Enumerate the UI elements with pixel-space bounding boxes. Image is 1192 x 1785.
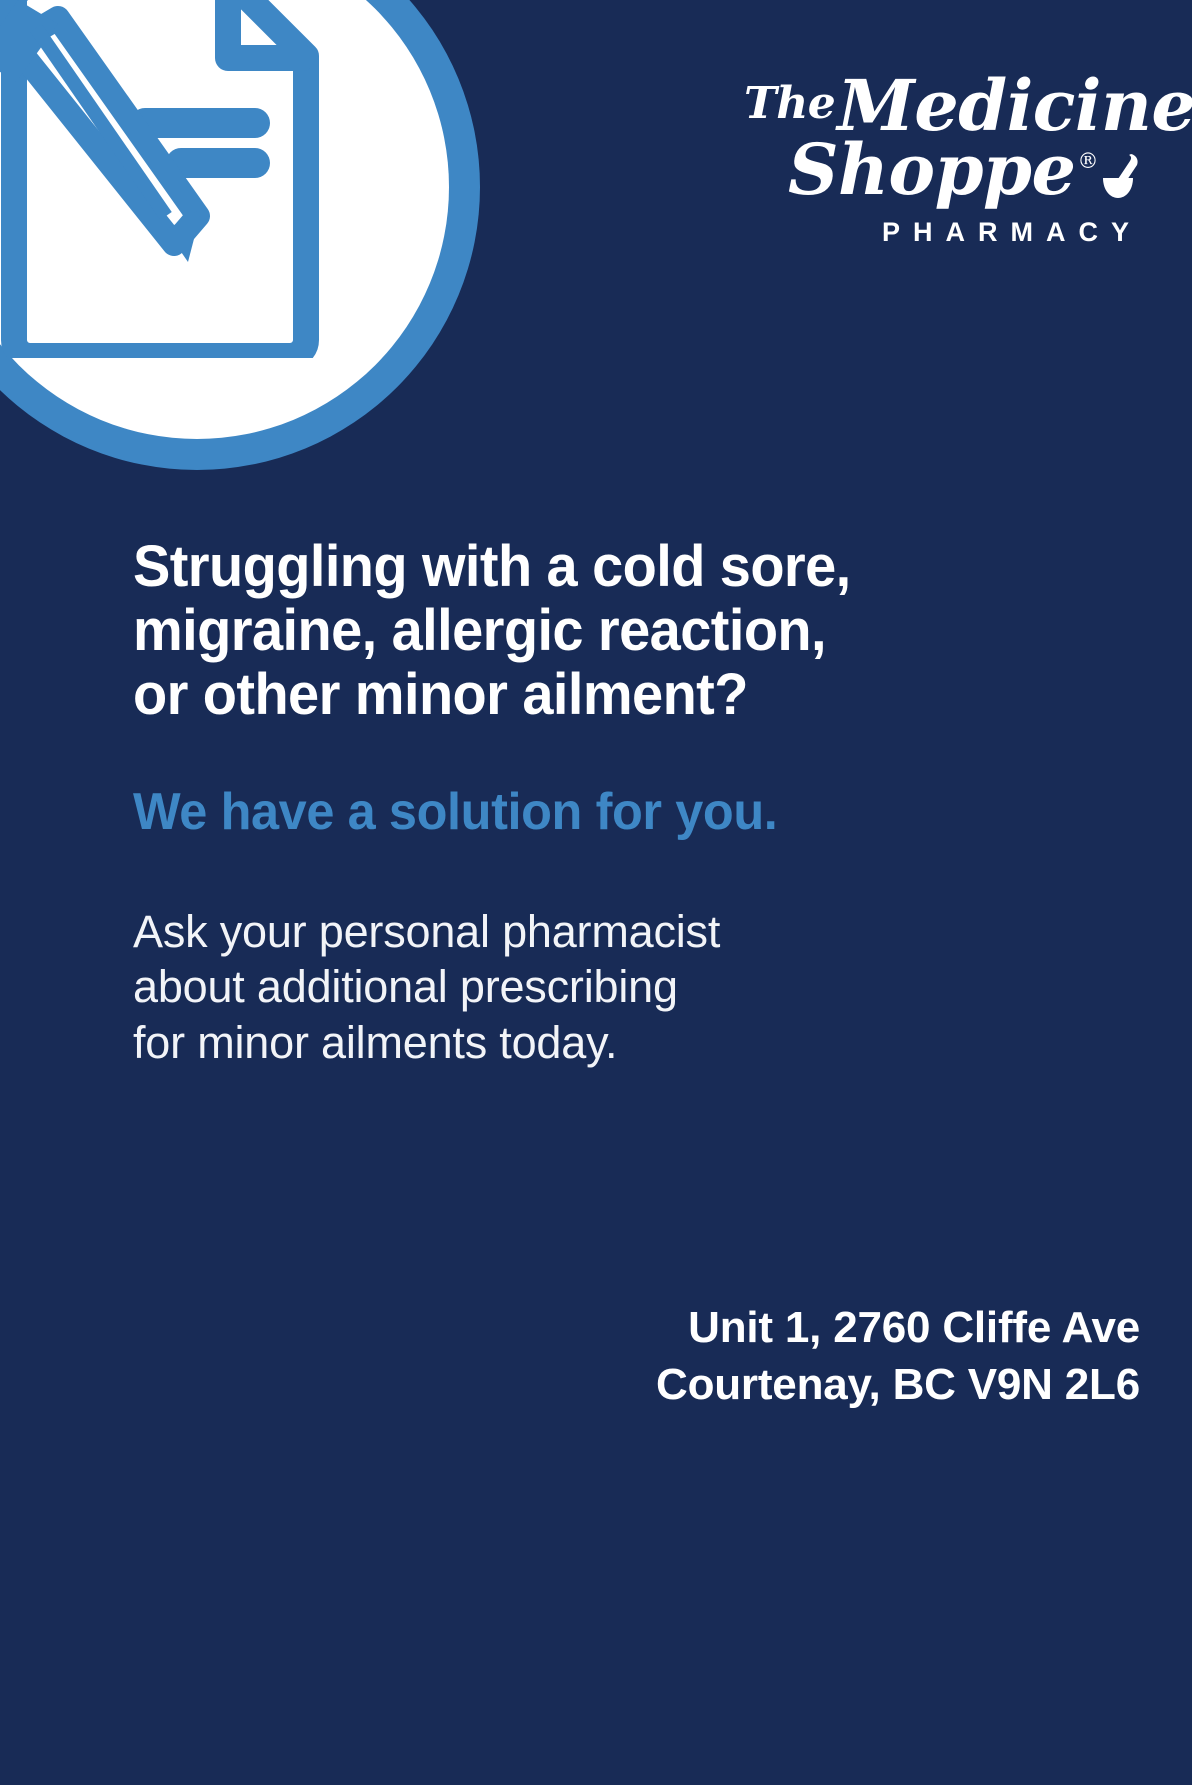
- address-line-2: Courtenay, BC V9N 2L6: [656, 1356, 1140, 1413]
- poster-canvas: TheMedicine Shoppe® PHARMACY Struggling …: [0, 0, 1192, 1785]
- content-block: Struggling with a cold sore, migraine, a…: [133, 535, 1144, 1071]
- headline-line-2: migraine, allergic reaction,: [133, 599, 1109, 663]
- logo-line-shoppe: Shoppe®: [744, 138, 1144, 202]
- body-line-1: Ask your personal pharmacist: [133, 904, 1144, 960]
- body-line-2: about additional prescribing: [133, 959, 1144, 1015]
- logo-script-lockup: TheMedicine Shoppe®: [744, 74, 1144, 203]
- logo-word-the: The: [744, 78, 837, 129]
- store-address: Unit 1, 2760 Cliffe Ave Courtenay, BC V9…: [656, 1299, 1140, 1413]
- subheadline: We have a solution for you.: [133, 784, 1114, 841]
- brand-logo: TheMedicine Shoppe® PHARMACY: [744, 74, 1144, 248]
- headline-line-3: or other minor ailment?: [133, 663, 1109, 727]
- circle-badge: [0, 0, 480, 470]
- logo-word-shoppe: Shoppe: [788, 128, 1076, 211]
- document-with-pencil-icon: [0, 0, 362, 358]
- headline: Struggling with a cold sore, migraine, a…: [133, 535, 1109, 726]
- headline-line-1: Struggling with a cold sore,: [133, 535, 1109, 599]
- address-line-1: Unit 1, 2760 Cliffe Ave: [656, 1299, 1140, 1356]
- body-line-3: for minor ailments today.: [133, 1015, 1144, 1071]
- body-copy: Ask your personal pharmacist about addit…: [133, 904, 1144, 1071]
- mortar-and-pestle-icon: [1100, 152, 1144, 200]
- registered-trademark-icon: ®: [1076, 149, 1099, 173]
- logo-word-pharmacy: PHARMACY: [744, 217, 1144, 248]
